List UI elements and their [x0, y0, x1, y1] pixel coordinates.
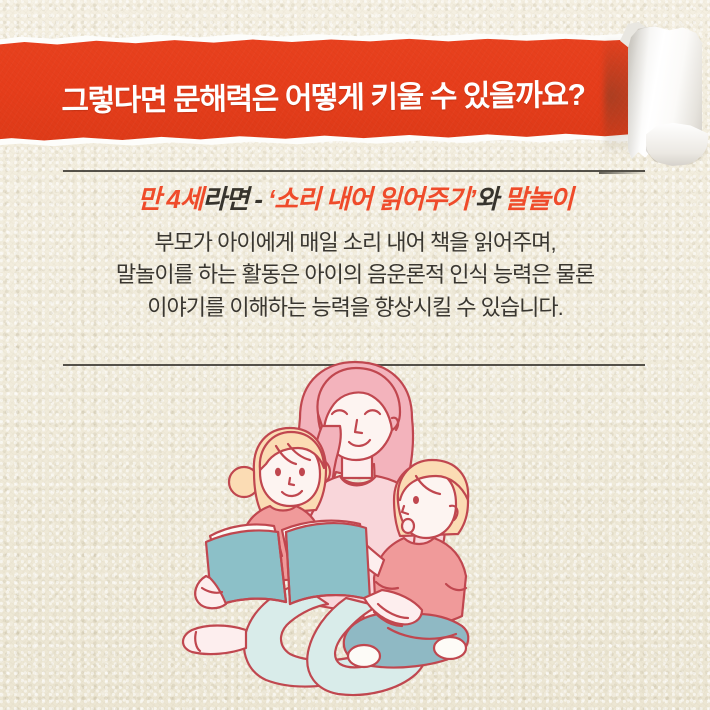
boy-foot-left	[348, 645, 380, 667]
book-cover-right	[286, 523, 370, 604]
boy-mouth	[402, 519, 414, 533]
body-paragraph: 부모가 아이에게 매일 소리 내어 책을 읽어주며, 말놀이를 하는 활동은 아…	[0, 227, 710, 325]
torn-paper-curl-icon	[598, 18, 710, 168]
girl-eye-left	[275, 468, 281, 476]
card-news-slide: 그렇다면 문해력은 어떻게 키울 수 있을까요? 만 4세라면 - ‘소리 내어…	[0, 0, 710, 710]
body-line: 부모가 아이에게 매일 소리 내어 책을 읽어주며,	[0, 227, 710, 260]
divider-top	[63, 170, 645, 172]
lead-headline: 만 4세라면 - ‘소리 내어 읽어주기’와 말놀이	[0, 184, 710, 215]
copy-block: 만 4세라면 - ‘소리 내어 읽어주기’와 말놀이 부모가 아이에게 매일 소…	[0, 184, 710, 324]
lead-segment-wordplay: 말놀이	[504, 184, 572, 214]
body-line: 말놀이를 하는 활동은 아이의 음운론적 인식 능력은 물론	[0, 259, 710, 292]
boy-foot-right	[434, 637, 466, 659]
illustration-mother-reading	[150, 360, 560, 710]
mother-foot	[183, 626, 246, 655]
lead-segment-age: 만 4세	[137, 184, 202, 214]
boy-eye	[413, 496, 419, 504]
lead-segment-connector: 라면 -	[203, 184, 268, 214]
lead-segment-and: 와	[475, 184, 504, 214]
body-line: 이야기를 이해하는 능력을 향상시킬 수 있습니다.	[0, 292, 710, 325]
lead-segment-readaloud: ‘소리 내어 읽어주기’	[268, 184, 475, 214]
girl-eye-right	[299, 468, 305, 476]
